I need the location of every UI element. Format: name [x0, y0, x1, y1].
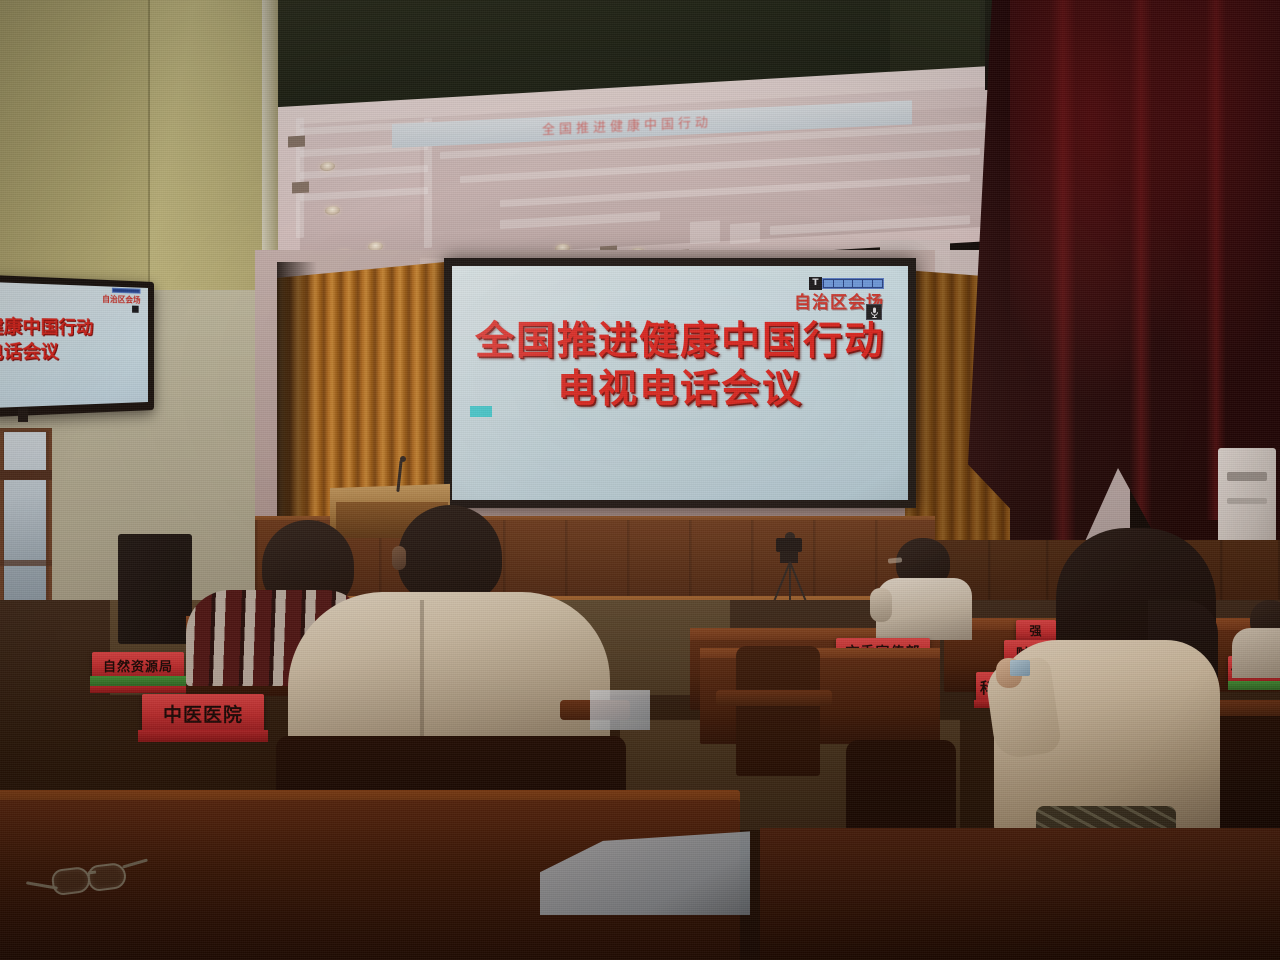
window-mullion — [0, 560, 52, 566]
foreground-desk-right — [760, 828, 1280, 960]
wall-tv-microphone-icon — [132, 306, 139, 313]
projection-screen[interactable]: T 自治区会场 全国推进健康中国行动 电视电话会议 — [452, 266, 908, 500]
wall-tv-title-line1: 进健康中国行动 — [0, 315, 93, 341]
wall-tv-screen[interactable]: 自治区会场 进健康中国行动 视电话会议 — [0, 282, 148, 407]
name-plate-label: 自然资源局 — [103, 656, 173, 675]
video-camera — [776, 538, 802, 552]
slide-title-line2: 电视电话会议 — [452, 366, 908, 414]
wall-tv-title-line2: 视电话会议 — [0, 340, 93, 366]
slide-title: 全国推进健康中国行动 电视电话会议 — [452, 318, 908, 413]
name-plate-base — [90, 686, 186, 693]
name-plate: 强 — [1016, 620, 1056, 640]
chair-arm — [716, 690, 832, 706]
ceiling-vent — [288, 136, 305, 148]
mobile-phone[interactable] — [1010, 660, 1030, 676]
window-mullion — [0, 470, 52, 480]
name-plate-label: 中医医院 — [163, 700, 243, 727]
eyeglasses-lens — [87, 862, 128, 892]
stage-curtain-left-shadow — [277, 262, 317, 527]
pillar-seam — [148, 0, 150, 300]
lectern-microphone-head — [400, 456, 406, 462]
wall-tv-mount — [18, 408, 28, 422]
drape-fold — [1206, 0, 1226, 520]
cabinet-vent — [1227, 472, 1267, 481]
drape-fold — [1130, 0, 1152, 540]
shirt-seam — [420, 600, 424, 750]
name-plate-label: 强 — [1029, 622, 1042, 639]
head — [398, 505, 502, 601]
cabinet-vent — [1227, 498, 1267, 504]
ceiling-block — [730, 222, 760, 244]
loudspeaker — [118, 534, 192, 644]
wall-tv-signal-bars — [112, 288, 141, 294]
name-plate: 中医医院 — [142, 694, 264, 732]
overhead-banner-text: 全国推进健康中国行动 — [542, 111, 712, 138]
ceiling-block — [690, 220, 720, 244]
name-plate-base — [138, 730, 268, 742]
chair[interactable] — [736, 646, 820, 776]
torso — [1232, 628, 1280, 678]
wall-pillar-left-face — [0, 0, 150, 300]
ceiling-vent — [292, 182, 309, 194]
ear — [392, 546, 406, 570]
name-plate-green-band — [1228, 681, 1280, 690]
name-plate: 自然资源局 — [92, 652, 184, 678]
drape-fold — [1050, 0, 1076, 560]
paper-on-desk — [590, 690, 650, 730]
eyeglasses — [48, 862, 158, 902]
slide-title-line1: 全国推进健康中国行动 — [452, 318, 908, 366]
arm — [870, 588, 892, 622]
conference-hall-photo: 全国推进健康中国行动 T 自治区会场 全国推进健康中国行动 电视电话会议 — [0, 0, 1280, 960]
wall-tv-title: 进健康中国行动 视电话会议 — [0, 315, 93, 367]
wall-tv-venue-label: 自治区会场 — [102, 293, 140, 305]
eyeglasses-lens — [51, 866, 92, 896]
